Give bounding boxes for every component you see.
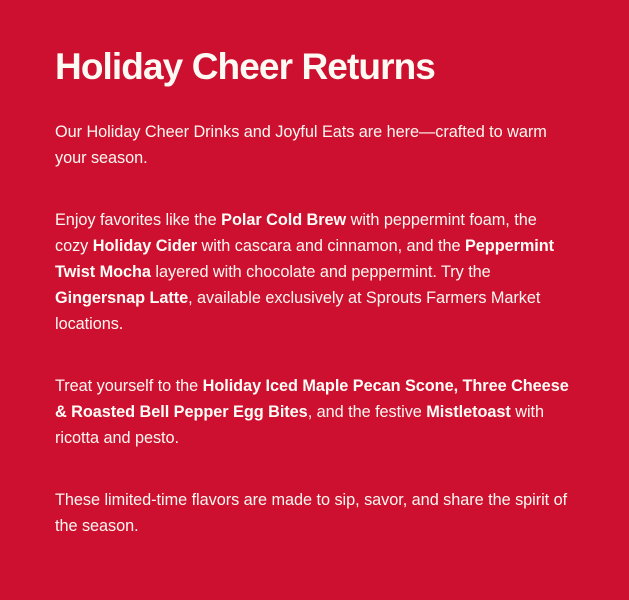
product-name: Holiday Cider [93, 237, 197, 255]
product-name: Gingersnap Latte [55, 289, 188, 307]
holiday-promo-card: Holiday Cheer Returns Our Holiday Cheer … [0, 0, 629, 600]
promo-paragraph-eats: Treat yourself to the Holiday Iced Maple… [55, 373, 572, 451]
body-text-run: These limited-time flavors are made to s… [55, 491, 567, 535]
product-name: Polar Cold Brew [221, 211, 346, 229]
body-text-run: Our Holiday Cheer Drinks and Joyful Eats… [55, 123, 547, 167]
body-text-run: , and the festive [308, 403, 427, 421]
promo-paragraph-drinks: Enjoy favorites like the Polar Cold Brew… [55, 207, 572, 337]
body-text-run: with cascara and cinnamon, and the [197, 237, 465, 255]
page-title: Holiday Cheer Returns [55, 46, 572, 89]
body-text-run: Treat yourself to the [55, 377, 203, 395]
promo-paragraph-closing: These limited-time flavors are made to s… [55, 487, 572, 539]
product-name: Mistletoast [426, 403, 511, 421]
body-text-run: layered with chocolate and peppermint. T… [151, 263, 491, 281]
body-text-run: Enjoy favorites like the [55, 211, 221, 229]
promo-paragraph-intro: Our Holiday Cheer Drinks and Joyful Eats… [55, 119, 572, 171]
